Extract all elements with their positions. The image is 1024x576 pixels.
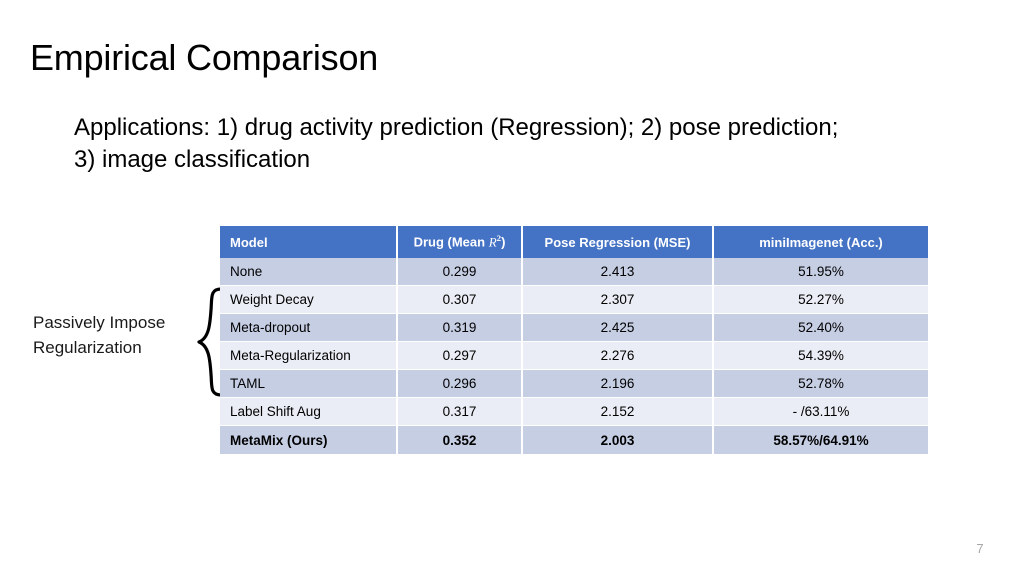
results-table: Model Drug (Mean R2) Pose Regression (MS…	[220, 226, 928, 454]
table-row: TAML0.2962.19652.78%	[220, 370, 928, 398]
cell-miniimagenet: 52.78%	[714, 370, 928, 398]
cell-drug: 0.307	[398, 286, 523, 314]
cell-pose: 2.307	[523, 286, 714, 314]
page-number: 7	[960, 541, 1000, 556]
cell-pose: 2.276	[523, 342, 714, 370]
cell-drug: 0.352	[398, 426, 523, 454]
cell-miniimagenet: 58.57%/64.91%	[714, 426, 928, 454]
table-header: Model Drug (Mean R2) Pose Regression (MS…	[220, 226, 928, 258]
cell-miniimagenet: 52.27%	[714, 286, 928, 314]
cell-model: TAML	[220, 370, 398, 398]
cell-drug: 0.297	[398, 342, 523, 370]
cell-miniimagenet: 51.95%	[714, 258, 928, 286]
cell-model: None	[220, 258, 398, 286]
group-annotation-line-2: Regularization	[33, 335, 203, 360]
table-row: None0.2992.41351.95%	[220, 258, 928, 286]
table-row: Weight Decay0.3072.30752.27%	[220, 286, 928, 314]
table-body: None0.2992.41351.95%Weight Decay0.3072.3…	[220, 258, 928, 454]
group-annotation-line-1: Passively Impose	[33, 310, 203, 335]
cell-model: MetaMix (Ours)	[220, 426, 398, 454]
group-annotation-label: Passively Impose Regularization	[33, 310, 203, 360]
slide-canvas: Empirical Comparison Applications: 1) dr…	[0, 0, 1024, 576]
cell-model: Weight Decay	[220, 286, 398, 314]
slide-subtitle: Applications: 1) drug activity predictio…	[74, 112, 864, 176]
cell-drug: 0.319	[398, 314, 523, 342]
column-header-drug-prefix: Drug (Mean	[414, 235, 489, 250]
cell-drug: 0.317	[398, 398, 523, 426]
cell-drug: 0.296	[398, 370, 523, 398]
cell-drug: 0.299	[398, 258, 523, 286]
table-row: Label Shift Aug0.3172.152- /63.11%	[220, 398, 928, 426]
column-header-model: Model	[220, 226, 398, 258]
cell-pose: 2.003	[523, 426, 714, 454]
table-row: MetaMix (Ours)0.3522.00358.57%/64.91%	[220, 426, 928, 454]
cell-model: Label Shift Aug	[220, 398, 398, 426]
page-title: Empirical Comparison	[30, 36, 378, 80]
cell-miniimagenet: 54.39%	[714, 342, 928, 370]
cell-pose: 2.413	[523, 258, 714, 286]
column-header-drug-suffix: )	[501, 235, 505, 250]
column-header-drug: Drug (Mean R2)	[398, 226, 523, 258]
table-row: Meta-Regularization0.2972.27654.39%	[220, 342, 928, 370]
column-header-miniimagenet: miniImagenet (Acc.)	[714, 226, 928, 258]
table-header-row: Model Drug (Mean R2) Pose Regression (MS…	[220, 226, 928, 258]
cell-model: Meta-Regularization	[220, 342, 398, 370]
cell-miniimagenet: - /63.11%	[714, 398, 928, 426]
cell-miniimagenet: 52.40%	[714, 314, 928, 342]
table-row: Meta-dropout0.3192.42552.40%	[220, 314, 928, 342]
cell-pose: 2.425	[523, 314, 714, 342]
cell-pose: 2.152	[523, 398, 714, 426]
column-header-drug-variable: R	[489, 235, 497, 250]
cell-model: Meta-dropout	[220, 314, 398, 342]
cell-pose: 2.196	[523, 370, 714, 398]
column-header-pose: Pose Regression (MSE)	[523, 226, 714, 258]
